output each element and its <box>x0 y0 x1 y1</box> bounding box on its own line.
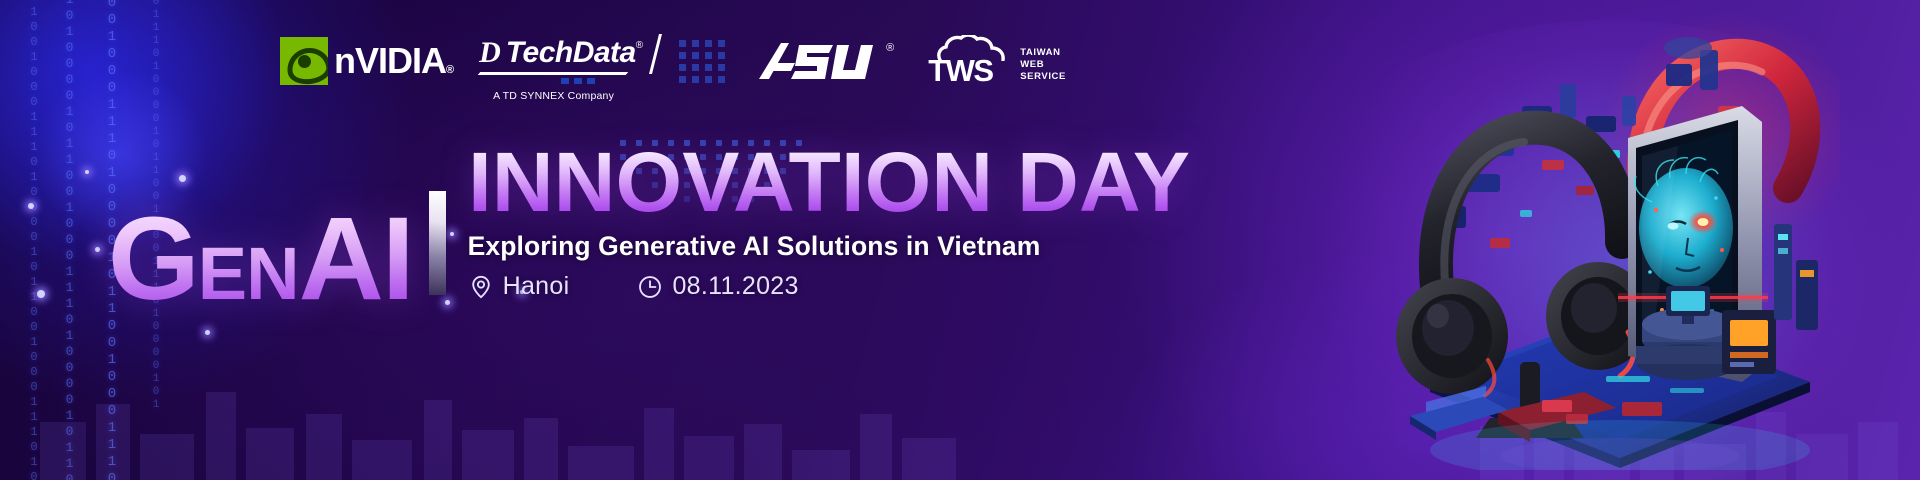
tws-subline-3: SERVICE <box>1020 71 1066 83</box>
spark-particle <box>37 290 45 298</box>
banner-subtitle: Exploring Generative AI Solutions in Vie… <box>468 231 1176 262</box>
tws-wordmark: TWS <box>928 53 992 89</box>
nvidia-wordmark: nVIDIA® <box>334 40 453 82</box>
asus-wordmark <box>755 39 883 83</box>
ai-tech-isometric-scene <box>1370 10 1840 470</box>
event-date: 08.11.2023 <box>637 272 798 301</box>
spark-particle <box>85 170 89 174</box>
event-location-label: Hanoi <box>503 272 570 301</box>
clock-icon <box>637 274 663 300</box>
tws-sublines: TAIWAN WEB SERVICE <box>1020 47 1066 83</box>
techdata-trademark: ® <box>636 40 643 51</box>
dot-separator-decor <box>679 40 725 83</box>
techdata-wordmark: TechData <box>506 38 636 68</box>
headline-innovation-day: INNOVATION DAY <box>468 144 1190 221</box>
spark-particle <box>28 203 34 209</box>
spark-particle <box>95 247 100 252</box>
logo-techdata[interactable]: D TechData ® A TD SYNNEX Company <box>479 38 643 84</box>
headline-ai: AI <box>299 193 413 325</box>
genai-innovation-day-banner: 1100100011101000010110010001110100 11101… <box>0 0 1920 480</box>
techdata-squares-decor <box>561 78 643 84</box>
logo-nvidia[interactable]: nVIDIA® <box>280 37 453 85</box>
techdata-monogram: D <box>479 38 501 68</box>
location-pin-icon <box>468 274 494 300</box>
amber-server-box <box>1722 310 1776 374</box>
techdata-tagline: A TD SYNNEX Company <box>493 90 614 102</box>
logo-asus[interactable]: ® <box>755 39 894 83</box>
techdata-underbar-decor <box>478 72 629 75</box>
partner-logo-row: nVIDIA® D TechData ® A TD SYNNEX Company <box>280 36 1066 86</box>
tws-subline-2: WEB <box>1020 59 1066 71</box>
event-meta-row: Hanoi 08.11.2023 <box>468 272 1176 301</box>
event-date-label: 08.11.2023 <box>672 272 798 301</box>
headline-gen-g: G <box>108 193 198 325</box>
headline-en-smallcaps: EN <box>198 232 299 315</box>
nvidia-eye-icon <box>280 37 328 85</box>
headline-divider-bar <box>429 191 446 295</box>
event-location: Hanoi <box>468 272 570 301</box>
headline-genai: GENAI <box>108 211 413 308</box>
logo-tws[interactable]: TWS TAIWAN WEB SERVICE <box>928 35 1066 87</box>
tws-subline-1: TAIWAN <box>1020 47 1066 59</box>
headline-group: GENAI INNOVATION DAY Exploring Generativ… <box>108 144 1175 307</box>
asus-trademark: ® <box>886 42 894 54</box>
nvidia-trademark: ® <box>446 64 453 76</box>
techdata-slash-decor <box>649 34 662 74</box>
